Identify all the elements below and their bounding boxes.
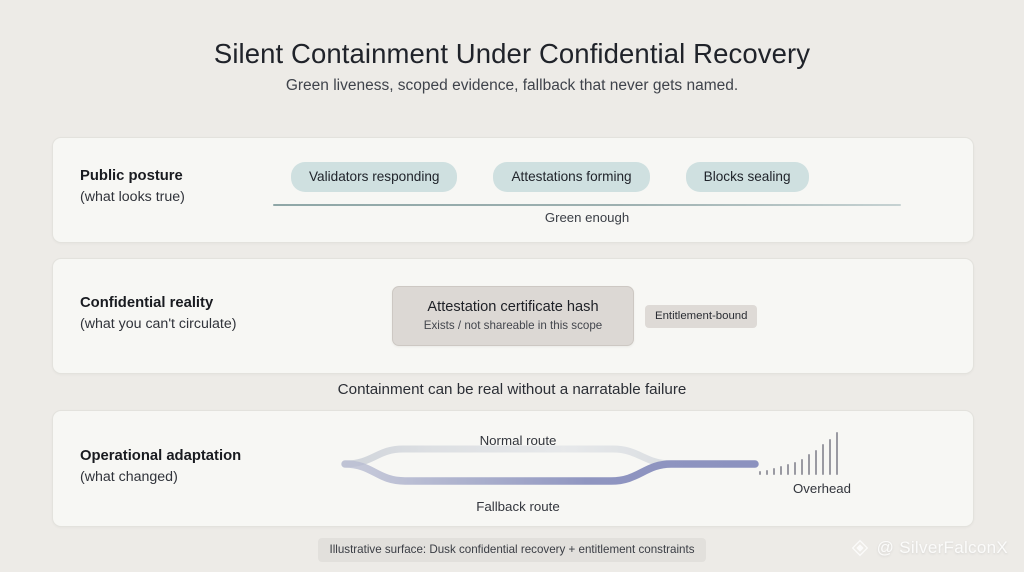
entitlement-bound-chip: Entitlement-bound bbox=[645, 305, 757, 328]
overhead-bar bbox=[780, 466, 782, 475]
overhead-bar-group bbox=[759, 429, 885, 475]
panel-public-posture: Public posture (what looks true) Validat… bbox=[52, 137, 974, 243]
public-posture-title: Public posture bbox=[80, 166, 185, 187]
confidential-reality-label: Confidential reality (what you can't cir… bbox=[80, 293, 236, 334]
diamond-logo-icon bbox=[850, 538, 870, 558]
pill-blocks-sealing[interactable]: Blocks sealing bbox=[686, 162, 809, 192]
overhead-bar bbox=[773, 468, 775, 475]
overhead-bar bbox=[787, 464, 789, 475]
panel-operational-adaptation: Operational adaptation (what changed) bbox=[52, 410, 974, 527]
normal-route-label: Normal route bbox=[273, 433, 763, 448]
operational-adaptation-label: Operational adaptation (what changed) bbox=[80, 446, 241, 487]
attestation-certificate-hash-box[interactable]: Attestation certificate hash Exists / no… bbox=[392, 286, 634, 346]
hash-box-title: Attestation certificate hash bbox=[393, 299, 633, 315]
pill-attestations-forming[interactable]: Attestations forming bbox=[493, 162, 649, 192]
panel-confidential-reality: Confidential reality (what you can't cir… bbox=[52, 258, 974, 374]
overhead-bar bbox=[808, 454, 810, 475]
page-subtitle: Green liveness, scoped evidence, fallbac… bbox=[0, 77, 1024, 95]
route-diagram: Normal route Fallback route bbox=[273, 419, 763, 519]
overhead-chart-label: Overhead bbox=[759, 481, 885, 496]
overhead-bar bbox=[759, 471, 761, 475]
overhead-bar bbox=[829, 439, 831, 475]
public-posture-caption: (what looks true) bbox=[80, 187, 185, 207]
green-enough-caption: Green enough bbox=[273, 210, 901, 225]
operational-adaptation-caption: (what changed) bbox=[80, 467, 241, 487]
overhead-bar bbox=[822, 444, 824, 475]
overhead-bar bbox=[801, 459, 803, 475]
overhead-bar bbox=[766, 470, 768, 475]
public-posture-pill-row: Validators responding Attestations formi… bbox=[291, 162, 809, 192]
operational-adaptation-title: Operational adaptation bbox=[80, 446, 241, 467]
overhead-bar bbox=[836, 432, 838, 475]
overhead-chart: Overhead bbox=[759, 429, 919, 507]
green-enough-rule bbox=[273, 204, 901, 206]
confidential-reality-title: Confidential reality bbox=[80, 293, 236, 314]
watermark: @ SilverFalconX bbox=[850, 538, 1008, 558]
watermark-handle: @ SilverFalconX bbox=[877, 538, 1008, 558]
overhead-bar bbox=[815, 450, 817, 475]
pill-validators-responding[interactable]: Validators responding bbox=[291, 162, 457, 192]
mid-caption: Containment can be real without a narrat… bbox=[0, 381, 1024, 398]
overhead-bar bbox=[794, 462, 796, 475]
fallback-route-label: Fallback route bbox=[273, 499, 763, 514]
slide-canvas: Silent Containment Under Confidential Re… bbox=[0, 0, 1024, 572]
fallback-route-path bbox=[345, 464, 755, 481]
page-title: Silent Containment Under Confidential Re… bbox=[0, 38, 1024, 70]
footnote-chip: Illustrative surface: Dusk confidential … bbox=[318, 538, 705, 562]
confidential-reality-caption: (what you can't circulate) bbox=[80, 314, 236, 334]
hash-box-subtitle: Exists / not shareable in this scope bbox=[393, 319, 633, 332]
public-posture-label: Public posture (what looks true) bbox=[80, 166, 185, 207]
